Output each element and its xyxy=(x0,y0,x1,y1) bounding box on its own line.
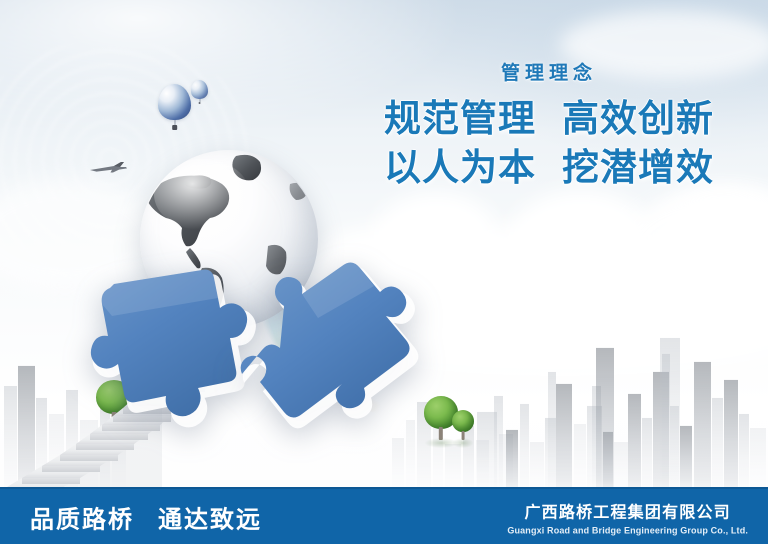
puzzle-piece-icon xyxy=(238,248,438,433)
headline-block: 管理理念 规范管理高效创新 以人为本挖潜增效 xyxy=(374,58,724,192)
company-identity: 广西路桥工程集团有限公司 Guangxi Road and Bridge Eng… xyxy=(507,498,748,535)
footer-slogan: 品质路桥通达致远 xyxy=(30,499,262,534)
headline-line-2: 以人为本挖潜增效 xyxy=(374,143,724,192)
tree-icon xyxy=(452,410,474,440)
cloud-mid-right xyxy=(620,190,768,310)
tree-shadow xyxy=(452,438,473,448)
company-name-en: Guangxi Road and Bridge Engineering Grou… xyxy=(507,525,748,535)
poster-canvas: 管理理念 规范管理高效创新 以人为本挖潜增效 品质路桥通达致远 广西路桥工程集团… xyxy=(0,0,768,544)
page-eyebrow: 管理理念 xyxy=(374,58,724,85)
headline-1-left: 规范管理 xyxy=(384,98,536,139)
puzzle-piece-icon xyxy=(52,258,262,448)
airplane-icon xyxy=(88,160,128,176)
footer-slogan-right: 通达致远 xyxy=(158,506,262,533)
headline-2-left: 以人为本 xyxy=(384,147,536,188)
globe-highlight xyxy=(154,159,250,230)
headline-line-1: 规范管理高效创新 xyxy=(374,94,724,143)
balloon-basket xyxy=(172,125,178,130)
balloon-envelope xyxy=(191,80,208,99)
footer-slogan-left: 品质路桥 xyxy=(30,506,134,533)
balloon-envelope xyxy=(158,84,191,120)
hot-air-balloon-icon xyxy=(191,80,208,104)
footer-bar: 品质路桥通达致远 广西路桥工程集团有限公司 Guangxi Road and B… xyxy=(0,487,768,544)
balloon-basket xyxy=(198,102,201,104)
tree-crown xyxy=(452,410,474,432)
hot-air-balloon-icon xyxy=(158,84,191,130)
company-name-cn: 广西路桥工程集团有限公司 xyxy=(507,498,748,522)
headline-2-right: 挖潜增效 xyxy=(562,147,714,188)
headline-1-right: 高效创新 xyxy=(562,98,714,139)
